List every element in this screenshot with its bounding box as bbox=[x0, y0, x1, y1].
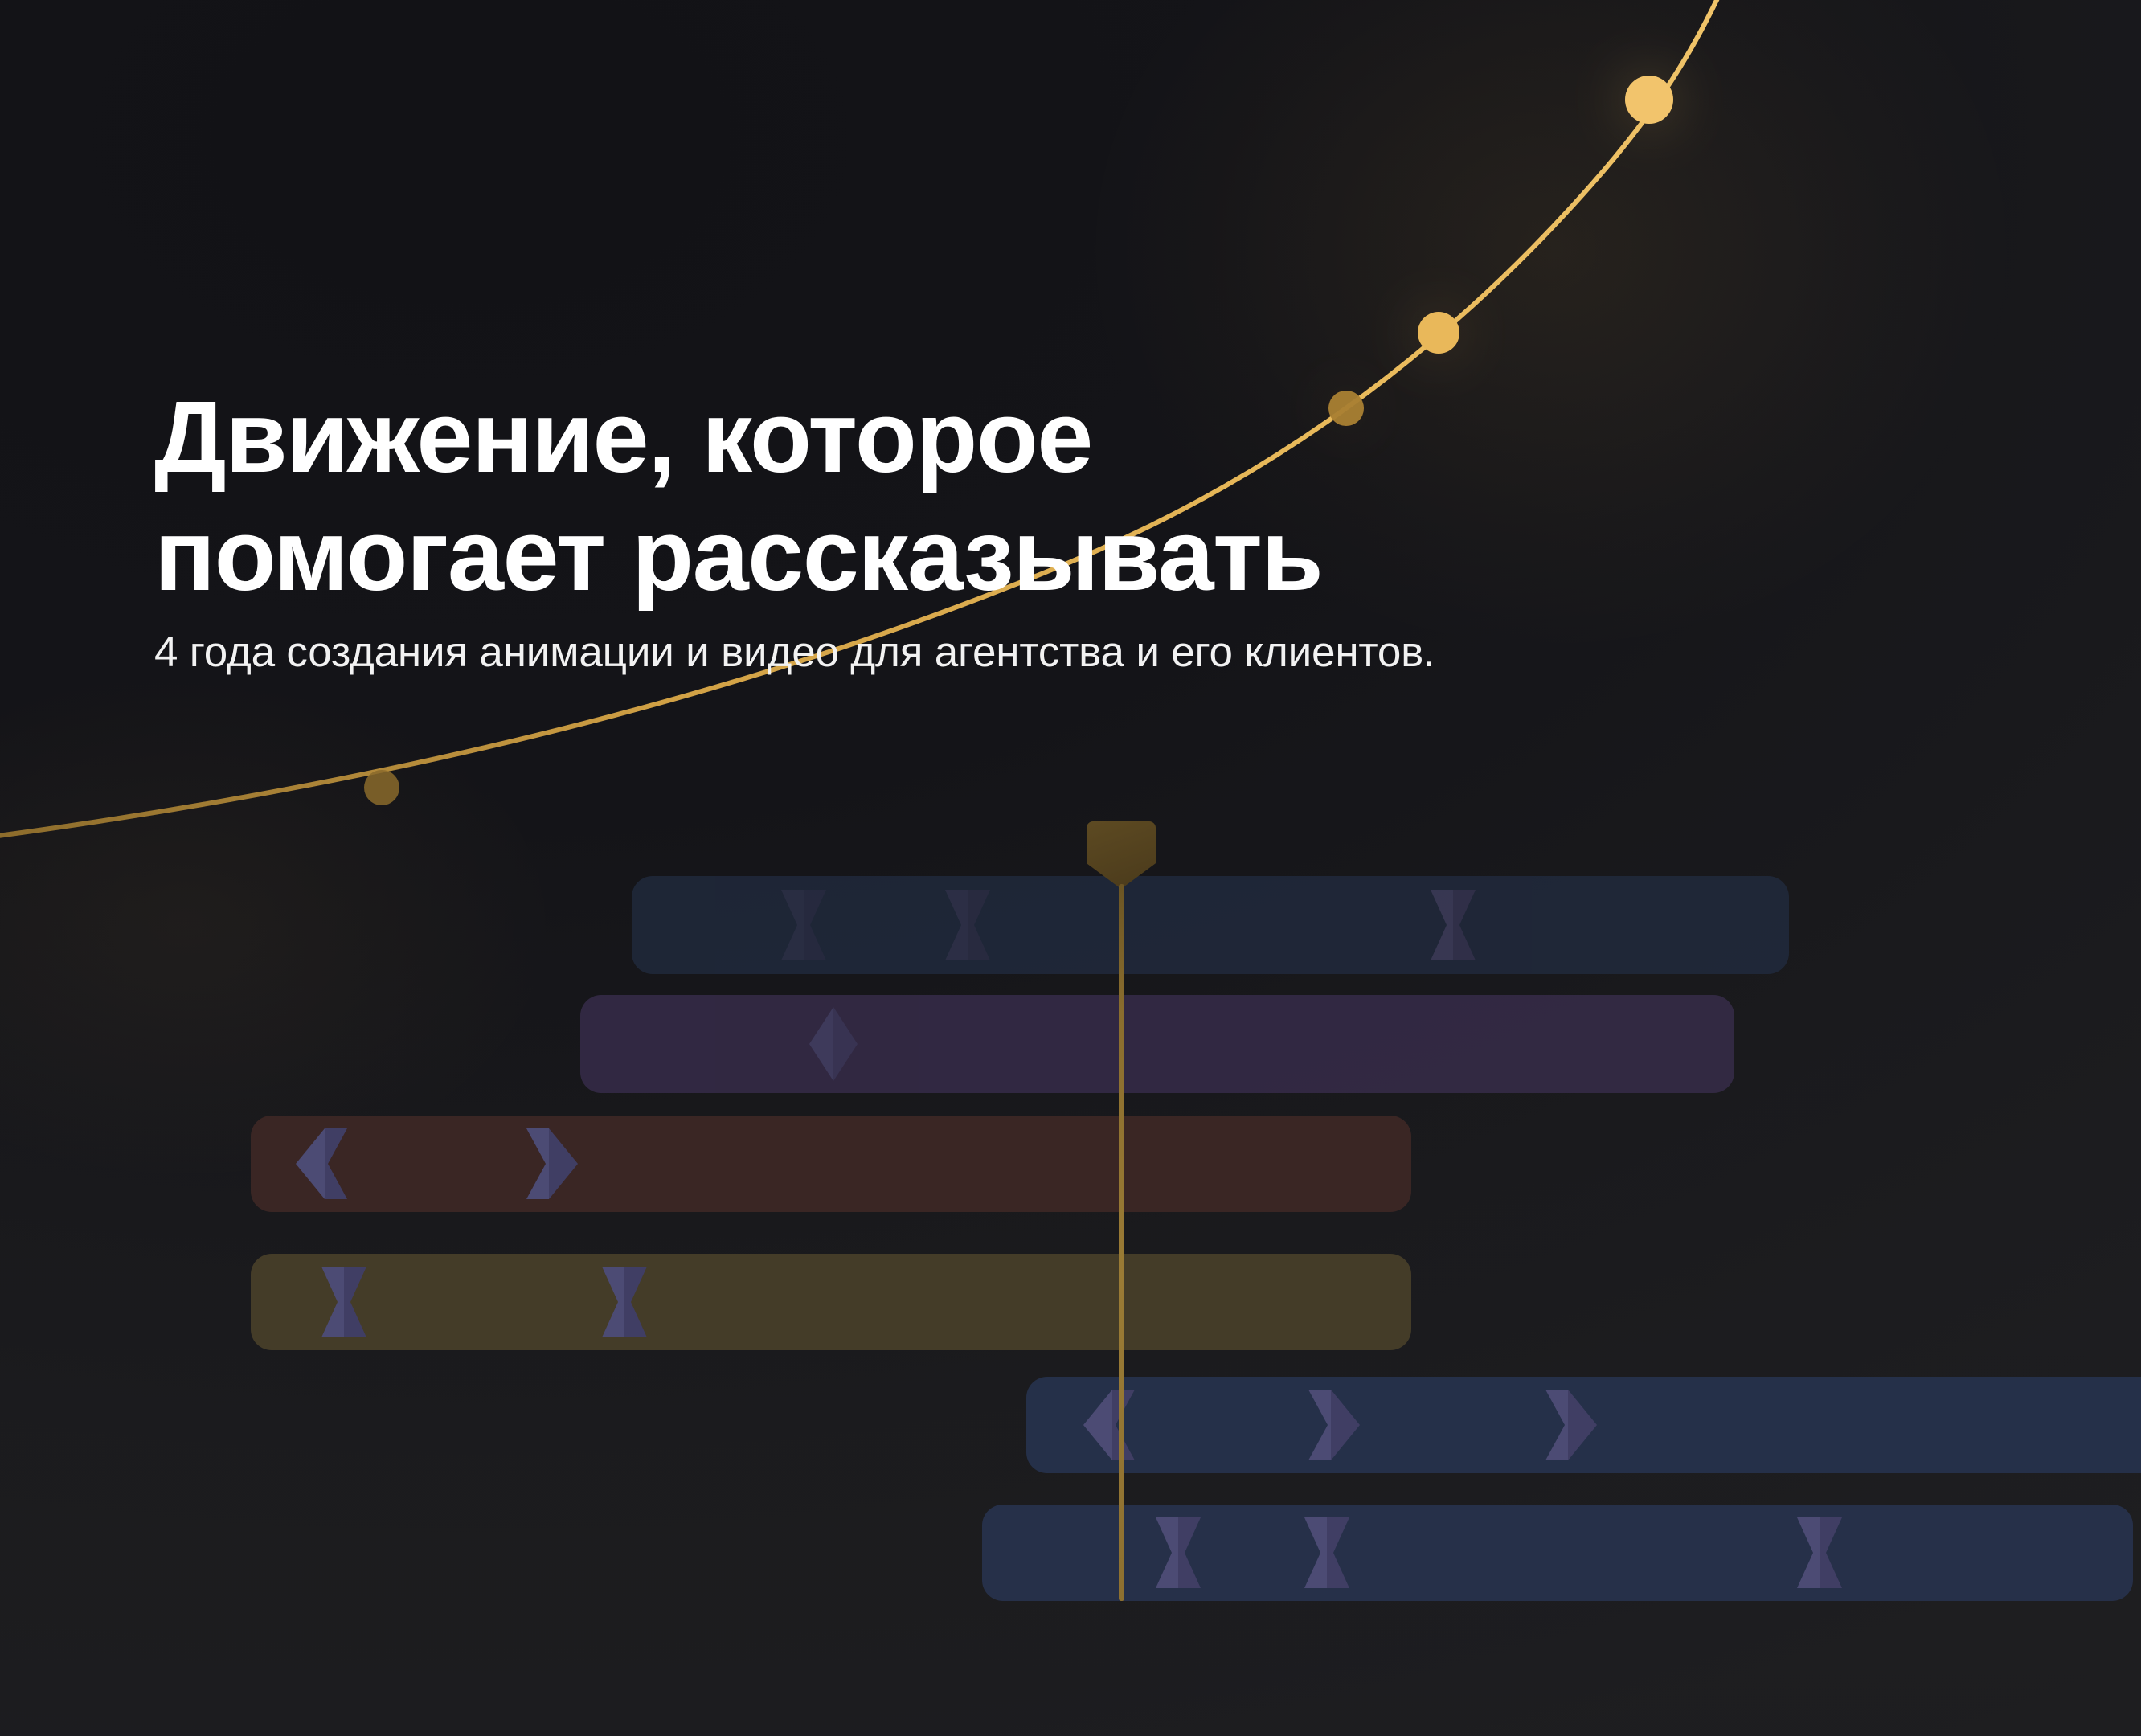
page-title: Движение, которое помогает рассказывать bbox=[154, 378, 2003, 615]
background-gradient bbox=[0, 0, 2141, 1736]
page-subtitle: 4 года создания анимации и видео для аге… bbox=[154, 626, 2003, 679]
hero-text-block: Движение, которое помогает рассказывать … bbox=[154, 378, 2003, 679]
playhead-line[interactable] bbox=[1119, 884, 1124, 1601]
slide-canvas: Движение, которое помогает рассказывать … bbox=[0, 0, 2141, 1736]
